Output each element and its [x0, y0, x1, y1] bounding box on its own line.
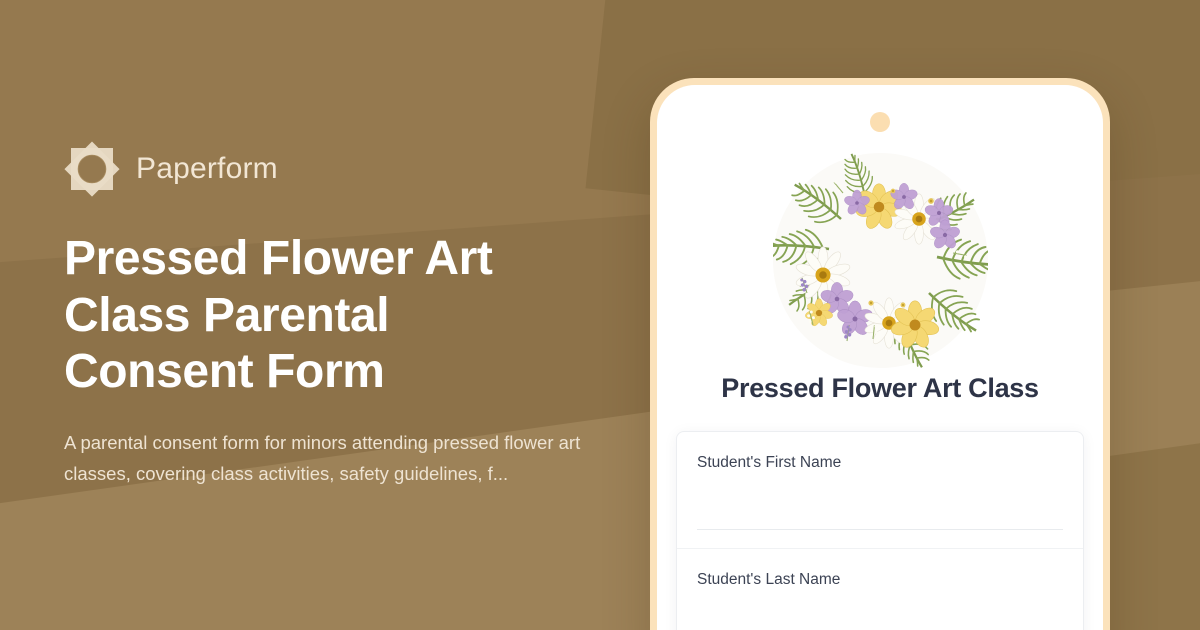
pressed-flower-wreath-icon [773, 153, 988, 368]
phone-screen: Pressed Flower Art Class Student's First… [657, 85, 1103, 630]
brand-lockup: Paperform [64, 141, 624, 197]
field-label: Student's First Name [697, 454, 1063, 472]
page-title: Pressed Flower Art Class Parental Consen… [64, 231, 564, 401]
form-field-student-last-name[interactable]: Student's Last Name [677, 548, 1083, 630]
form-card: Student's First Name Student's Last Name [676, 431, 1084, 630]
hero-text-column: Paperform Pressed Flower Art Class Paren… [64, 0, 624, 630]
form-heading: Pressed Flower Art Class [657, 373, 1103, 404]
field-underline [697, 529, 1063, 530]
form-field-student-first-name[interactable]: Student's First Name [677, 432, 1083, 548]
paperform-starburst-logo-icon [64, 141, 120, 197]
page-description: A parental consent form for minors atten… [64, 427, 584, 489]
phone-mockup: Pressed Flower Art Class Student's First… [650, 78, 1110, 630]
form-header-image [657, 145, 1103, 375]
field-label: Student's Last Name [697, 571, 1063, 589]
camera-dot-icon [870, 112, 890, 132]
brand-name: Paperform [136, 152, 278, 186]
